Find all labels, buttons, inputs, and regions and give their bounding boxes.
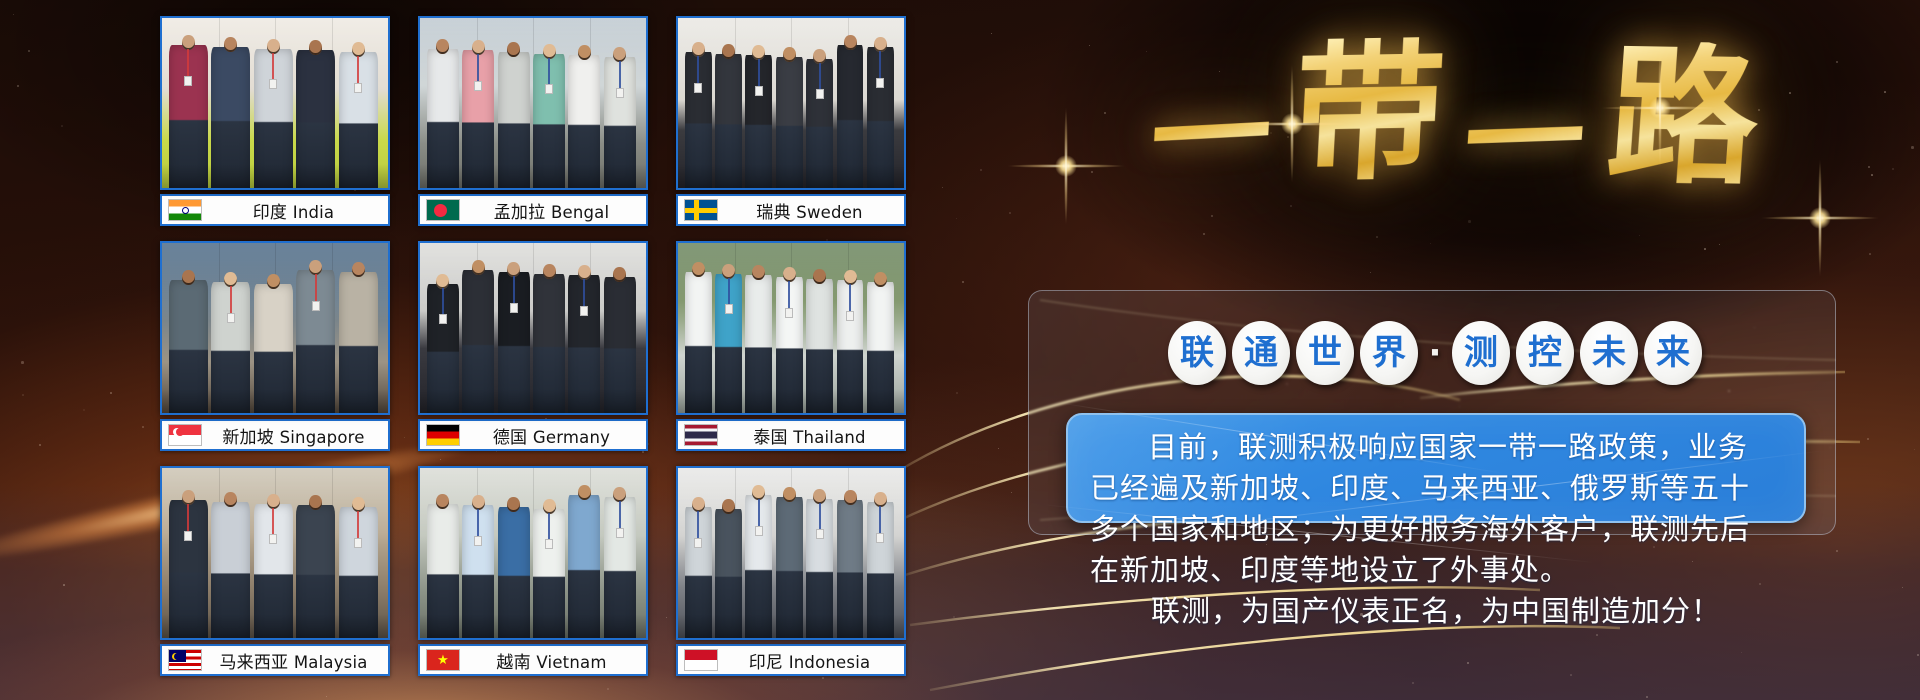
headline-char-2: 带 xyxy=(1290,36,1448,189)
flag-icon-bd xyxy=(426,199,460,221)
gallery-cell[interactable]: 泰国 Thailand xyxy=(676,241,906,455)
country-label: 印度 India xyxy=(211,198,382,223)
flag-icon-in xyxy=(168,199,202,221)
slogan-pill-1: 联 xyxy=(1168,321,1226,385)
country-label-cn: 孟加拉 xyxy=(494,203,546,223)
country-label-en: Malaysia xyxy=(294,653,368,672)
gallery-cell[interactable]: 新加坡 Singapore xyxy=(160,241,390,455)
country-label: 印尼 Indonesia xyxy=(727,648,898,673)
country-label: 泰国 Thailand xyxy=(727,423,898,448)
slogan-pill-5: 测 xyxy=(1452,321,1510,385)
headline-char-3: 一 xyxy=(1460,78,1589,202)
flag-icon-se xyxy=(684,199,718,221)
slogan-pill-3: 世 xyxy=(1296,321,1354,385)
gallery-cell[interactable]: 德国 Germany xyxy=(418,241,648,455)
country-label-cn: 印度 xyxy=(253,203,287,223)
country-label: 马来西亚 Malaysia xyxy=(211,648,382,673)
headline-calligraphy-wrap: 一 带 一 路 xyxy=(1020,6,1890,231)
country-caption: 泰国 Thailand xyxy=(676,419,906,451)
country-photo-grid: 印度 India孟加拉 Bengal瑞典 Sweden新加坡 Singapore… xyxy=(160,16,926,688)
country-label: 新加坡 Singapore xyxy=(211,423,382,448)
slogan-pill-7: 未 xyxy=(1580,321,1638,385)
country-label-en: Bengal xyxy=(551,203,609,222)
country-caption: 德国 Germany xyxy=(418,419,648,451)
headline-calligraphy: 一 带 一 路 xyxy=(1020,6,1890,231)
description-line-4: 在新加坡、印度等地设立了外事处。 xyxy=(1090,550,1782,591)
country-photo[interactable] xyxy=(418,466,648,640)
country-label-cn: 越南 xyxy=(496,653,530,673)
slogan-pill-2: 通 xyxy=(1232,321,1290,385)
country-label-en: Sweden xyxy=(796,203,862,222)
country-label-cn: 瑞典 xyxy=(756,203,790,223)
country-label: 瑞典 Sweden xyxy=(727,198,898,223)
description-box: 目前，联测积极响应国家一带一路政策，业务 已经遍及新加坡、印度、马来西亚、俄罗斯… xyxy=(1066,413,1806,523)
gallery-cell[interactable]: ★越南 Vietnam xyxy=(418,466,648,680)
slogan-separator: · xyxy=(1424,336,1446,370)
country-label-cn: 印尼 xyxy=(749,653,783,673)
slogan-pill-4: 界 xyxy=(1360,321,1418,385)
country-label-cn: 德国 xyxy=(493,428,527,448)
belt-and-road-banner: 印度 India孟加拉 Bengal瑞典 Sweden新加坡 Singapore… xyxy=(0,0,1920,700)
country-label-en: Singapore xyxy=(280,428,365,447)
slogan-pill-6: 控 xyxy=(1516,321,1574,385)
description-line-2: 已经遍及新加坡、印度、马来西亚、俄罗斯等五十 xyxy=(1090,468,1782,509)
country-label-cn: 泰国 xyxy=(753,428,787,448)
country-caption: 印度 India xyxy=(160,194,390,226)
headline-char-4: 路 xyxy=(1603,40,1763,193)
flag-icon-vn: ★ xyxy=(426,649,460,671)
gallery-cell[interactable]: 马来西亚 Malaysia xyxy=(160,466,390,680)
description-line-5: 联测，为国产仪表正名，为中国制造加分！ xyxy=(1090,591,1782,632)
country-caption: 孟加拉 Bengal xyxy=(418,194,648,226)
country-caption: 马来西亚 Malaysia xyxy=(160,644,390,676)
country-caption: ★越南 Vietnam xyxy=(418,644,648,676)
slogan-pill-8: 来 xyxy=(1644,321,1702,385)
country-photo[interactable] xyxy=(160,241,390,415)
gallery-cell[interactable]: 印尼 Indonesia xyxy=(676,466,906,680)
flag-icon-de xyxy=(426,424,460,446)
country-label-en: Vietnam xyxy=(536,653,606,672)
flag-icon-id xyxy=(684,649,718,671)
slogan-row: 联 通 世 界 · 测 控 未 来 xyxy=(1168,320,1702,386)
country-photo[interactable] xyxy=(418,16,648,190)
country-label-en: Thailand xyxy=(793,428,865,447)
country-label-en: Germany xyxy=(533,428,610,447)
country-caption: 瑞典 Sweden xyxy=(676,194,906,226)
country-photo[interactable] xyxy=(676,16,906,190)
country-photo[interactable] xyxy=(160,16,390,190)
headline-char-1: 一 xyxy=(1148,73,1275,199)
country-photo[interactable] xyxy=(676,241,906,415)
country-label-en: India xyxy=(293,203,335,222)
country-label: 越南 Vietnam xyxy=(469,648,640,673)
description-line-3: 多个国家和地区；为更好服务海外客户，联测先后 xyxy=(1090,509,1782,550)
flag-icon-th xyxy=(684,424,718,446)
country-label-cn: 马来西亚 xyxy=(219,653,288,673)
country-photo[interactable] xyxy=(418,241,648,415)
country-photo[interactable] xyxy=(160,466,390,640)
gallery-cell[interactable]: 瑞典 Sweden xyxy=(676,16,906,230)
country-label-cn: 新加坡 xyxy=(222,428,274,448)
gallery-cell[interactable]: 印度 India xyxy=(160,16,390,230)
country-label: 德国 Germany xyxy=(469,423,640,448)
country-caption: 印尼 Indonesia xyxy=(676,644,906,676)
country-label: 孟加拉 Bengal xyxy=(469,198,640,223)
flag-icon-my xyxy=(168,649,202,671)
country-caption: 新加坡 Singapore xyxy=(160,419,390,451)
description-line-1: 目前，联测积极响应国家一带一路政策，业务 xyxy=(1090,427,1782,468)
gallery-cell[interactable]: 孟加拉 Bengal xyxy=(418,16,648,230)
country-photo[interactable] xyxy=(676,466,906,640)
flag-icon-sg xyxy=(168,424,202,446)
country-label-en: Indonesia xyxy=(789,653,871,672)
